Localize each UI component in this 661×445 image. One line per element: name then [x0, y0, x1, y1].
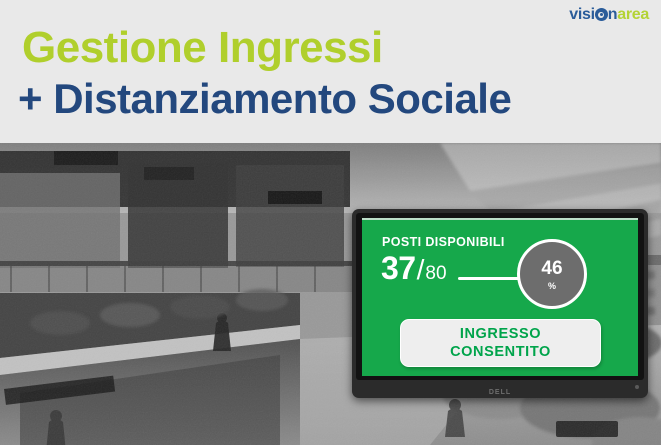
status-line-2: CONSENTITO	[450, 343, 551, 361]
circle-o-icon	[595, 8, 608, 21]
percentage-value: 46	[520, 258, 584, 280]
logo-text-n: n	[608, 6, 617, 23]
screen-top-accent-line	[362, 218, 638, 220]
brand-logo[interactable]: visinarea	[569, 6, 649, 24]
header-banner: visinarea Gestione Ingressi + Distanziam…	[0, 0, 661, 143]
page-title-line2: + Distanziamento Sociale	[18, 74, 511, 124]
connector-line	[458, 277, 520, 280]
occupancy-counter: 37/80	[381, 251, 447, 292]
count-separator: /	[416, 254, 426, 285]
status-line-1: INGRESSO	[460, 325, 541, 343]
available-count: 37	[381, 250, 416, 286]
percentage-gauge: 46 %	[517, 239, 587, 309]
screen-content: POSTI DISPONIBILI 37/80 46 % INGRESSO CO…	[362, 218, 638, 376]
monitor-brand-label: DELL	[352, 389, 648, 396]
entry-status-button[interactable]: INGRESSO CONSENTITO	[400, 319, 601, 367]
availability-label: POSTI DISPONIBILI	[382, 235, 505, 249]
logo-text-area: area	[617, 6, 649, 23]
monitor-display: POSTI DISPONIBILI 37/80 46 % INGRESSO CO…	[352, 209, 648, 398]
page-title-line1: Gestione Ingressi	[22, 23, 383, 73]
slide-root: visinarea Gestione Ingressi + Distanziam…	[0, 0, 661, 445]
percentage-sign: %	[520, 281, 584, 291]
total-capacity: 80	[425, 263, 446, 284]
logo-text-visi: visi	[569, 6, 595, 23]
power-led-icon	[635, 385, 639, 389]
